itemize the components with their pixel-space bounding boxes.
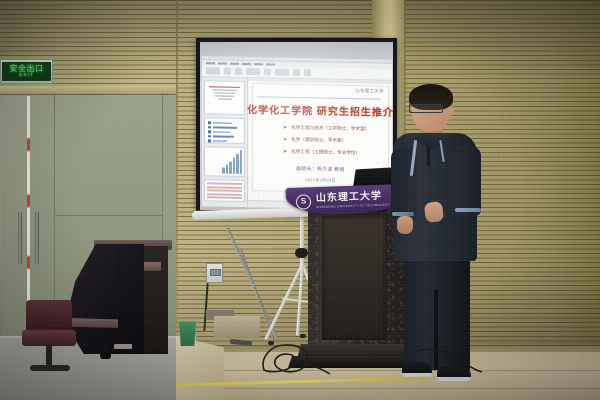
ribbon-tab[interactable]	[242, 62, 251, 64]
presenter-hand-left	[397, 216, 413, 234]
slide-divider	[257, 96, 381, 99]
banner-name-en: SHANDONG UNIVERSITY OF TECHNOLOGY	[316, 203, 390, 208]
door-seam	[55, 215, 163, 216]
slide-thumbnail-title[interactable]	[204, 80, 245, 115]
slide-bullet-text: 化学工程与技术（工学硕士、学术型）	[291, 125, 369, 132]
floor-equipment-box	[214, 316, 260, 338]
slide-speaker-line: 副院长：杨万洁 教授	[296, 165, 345, 173]
arrow-bullet-icon: ➤	[283, 137, 287, 143]
exit-sign-label-en: EXIT	[19, 73, 34, 78]
ribbon-tab[interactable]	[218, 62, 227, 64]
wall-seam	[176, 0, 178, 352]
presenter-ear	[447, 106, 454, 116]
door-header-trim	[0, 86, 176, 95]
arrow-bullet-icon: ➤	[283, 149, 287, 155]
university-seal-glyph: S	[301, 197, 307, 205]
floor-cable-right	[418, 346, 484, 374]
presenter-sleeve-trim-left	[392, 212, 414, 216]
slide-thumbnail-table[interactable]	[204, 179, 245, 202]
chair-seat[interactable]	[22, 330, 76, 346]
arrow-bullet-icon: ➤	[283, 125, 287, 131]
door-handle-left[interactable]	[18, 212, 22, 264]
eyeglasses-icon	[409, 104, 443, 113]
presenter-hand-right	[424, 201, 445, 223]
slide-bullet-list: ➤ 化学工程与技术（工学硕士、学术型） ➤ 化学（理学硕士、学术型） ➤ 化学工…	[253, 124, 388, 163]
door-handle-right[interactable]	[35, 212, 39, 264]
slide-bullet-text: 化学（理学硕士、学术型）	[291, 137, 346, 144]
slide-thumbnail-panel[interactable]	[202, 77, 248, 207]
exit-sign-face: 安全出口 EXIT	[2, 62, 51, 81]
slide-bullet-text: 化学工程（工程硕士、专业学位）	[291, 149, 360, 156]
control-panel-display	[210, 269, 221, 276]
chair-backrest[interactable]	[26, 300, 72, 332]
slide-bullet-item: ➤ 化学（理学硕士、学术型）	[283, 137, 388, 145]
wall-control-panel[interactable]	[206, 263, 223, 283]
ribbon-tab[interactable]	[254, 63, 263, 65]
presenter-shirt-placket	[427, 146, 430, 166]
floor-cable-coil	[258, 340, 332, 376]
emergency-exit-sign: 安全出口 EXIT	[0, 59, 53, 84]
slide-title: 化学化工学院 研究生招生推介	[247, 101, 393, 119]
piano-trim-lower	[64, 318, 118, 328]
ribbon-button[interactable]	[264, 68, 271, 75]
slide-thumbnail-bullets[interactable]	[204, 117, 245, 144]
floor-plank-seam	[176, 388, 600, 389]
lecture-hall-photo: 安全出口 EXIT	[0, 0, 600, 400]
ribbon-tab[interactable]	[266, 63, 275, 65]
presenter-sleeve-right	[455, 146, 481, 216]
ribbon-button[interactable]	[246, 68, 260, 75]
piano-pedal	[114, 344, 132, 349]
ribbon-button[interactable]	[224, 68, 231, 75]
chair-base	[30, 365, 70, 371]
ribbon-button[interactable]	[235, 68, 242, 75]
slide-bullet-item: ➤ 化学工程（工程硕士、专业学位）	[283, 149, 388, 157]
tripod-knob[interactable]	[295, 248, 308, 258]
ribbon-button[interactable]	[275, 69, 289, 76]
floor-plank-seam	[176, 370, 600, 371]
presenter-shoe-sole-right	[437, 377, 471, 381]
slide-thumbnail-chart[interactable]	[204, 146, 245, 177]
presenter-sleeve-trim-right	[455, 208, 481, 212]
ribbon-tab[interactable]	[206, 62, 215, 64]
tripod-column	[300, 210, 304, 268]
ribbon-button[interactable]	[304, 69, 311, 76]
chair-post	[46, 345, 52, 367]
tripod-foot	[300, 334, 306, 338]
green-bucket[interactable]	[178, 322, 197, 346]
slide-university-logo: 山东理工大学	[355, 88, 384, 95]
eyeglasses-bridge	[421, 107, 426, 108]
ribbon-button[interactable]	[293, 69, 300, 76]
slide-date-line: 2021年3月20日	[305, 177, 336, 184]
banner-text-block: 山东理工大学 SHANDONG UNIVERSITY OF TECHNOLOGY	[316, 191, 390, 208]
ribbon-button[interactable]	[206, 67, 220, 74]
banner-name-cn: 山东理工大学	[316, 191, 390, 204]
university-seal-icon: S	[296, 194, 312, 210]
podium-front-inset	[322, 216, 386, 340]
ribbon-tab[interactable]	[230, 62, 239, 64]
piano-caster	[100, 352, 111, 359]
slide-bullet-item: ➤ 化学工程与技术（工学硕士、学术型）	[283, 125, 388, 133]
